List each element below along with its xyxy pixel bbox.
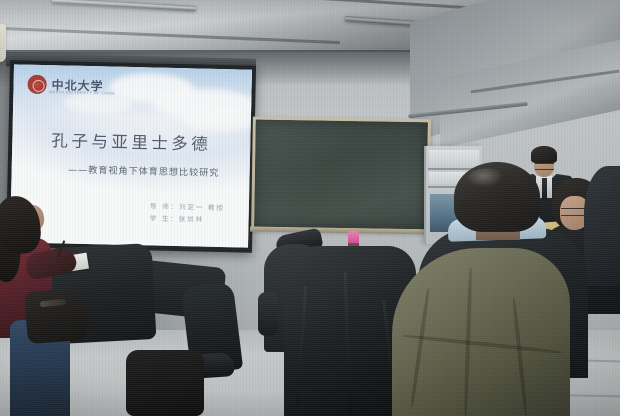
cabinet-panel xyxy=(429,150,479,166)
coat-fold xyxy=(296,286,307,406)
presenter-glasses xyxy=(535,163,554,170)
slide-credits: 导 师：刘定一 教授 学 生：张加林 xyxy=(150,200,225,226)
draped-olive-coat xyxy=(392,248,570,416)
coat-seam xyxy=(512,298,528,416)
presentation-slide: 中北大学 NORTH UNIVERSITY OF CHINA 孔子与亚里士多德 … xyxy=(10,64,252,247)
floor-bag xyxy=(126,350,204,416)
blackboard-sheen xyxy=(254,120,428,230)
man-hair-highlight xyxy=(466,168,510,194)
coat-fold xyxy=(344,272,352,412)
cloud-shape xyxy=(183,106,252,132)
chair-armrest xyxy=(258,292,278,336)
classroom-photo: 中北大学 NORTH UNIVERSITY OF CHINA 孔子与亚里士多德 … xyxy=(0,0,620,416)
bottle-cap xyxy=(348,231,359,243)
slide-title: 孔子与亚里士多德 xyxy=(12,126,250,155)
edge-person-right xyxy=(584,166,620,286)
presenter-hair xyxy=(531,146,557,163)
presenter-tie xyxy=(542,178,547,200)
coat-seam xyxy=(402,334,562,355)
blackboard-surface xyxy=(254,120,428,230)
hanging-cloth xyxy=(0,24,6,62)
slide-subtitle: ——教育视角下体育思想比较研究 xyxy=(12,160,250,179)
coat-seam xyxy=(410,288,431,407)
blackboard xyxy=(251,117,431,233)
university-seal-icon xyxy=(27,75,46,94)
student-line: 学 生：张加林 xyxy=(150,212,225,226)
handbag xyxy=(24,288,87,344)
